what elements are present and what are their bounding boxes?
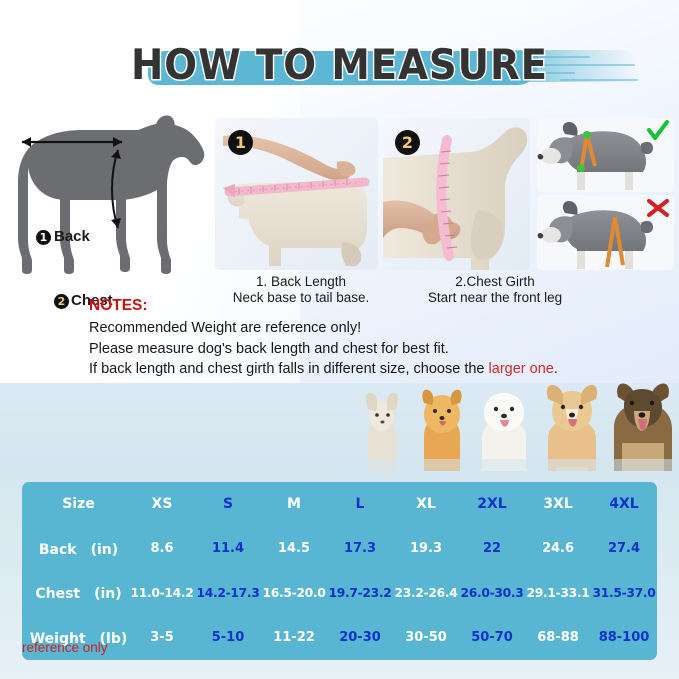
notes-line-3-pre: If back length and chest girth falls in … xyxy=(89,361,489,377)
notes-highlight: larger one xyxy=(489,361,554,377)
table-cell: 4XL xyxy=(591,482,657,527)
table-cell: S xyxy=(195,482,261,527)
row-header: Chest (in) xyxy=(22,571,129,616)
notes-line-2: Please measure dog's back length and che… xyxy=(89,339,659,360)
panel-badge-two: 2 xyxy=(395,130,420,155)
notes-line-1: Recommended Weight are reference only! xyxy=(89,318,659,339)
table-cell: 2XL xyxy=(459,482,525,527)
caption-back-title: 1. Back Length xyxy=(215,274,387,290)
table-cell: 22 xyxy=(459,527,525,572)
table-cell: 50-70 xyxy=(459,616,525,661)
size-table-band: Size XS S M L XL 2XL 3XL 4XL Back (in) 8… xyxy=(0,479,679,679)
dog-silhouette-diagram: 1Back 2Chest xyxy=(6,112,211,277)
dog-breeds-band xyxy=(0,383,679,479)
table-row: Size XS S M L XL 2XL 3XL 4XL xyxy=(22,482,657,527)
size-chart-page: HOW TO MEASURE 1Back 2Chest xyxy=(0,0,679,679)
notes-body: Recommended Weight are reference only! P… xyxy=(89,318,659,380)
table-cell: 27.4 xyxy=(591,527,657,572)
dog-silhouette-icon xyxy=(6,112,211,277)
table-cell: 31.5-37.0 xyxy=(591,571,657,616)
table-row: Weight (lb) 3-5 5-10 11-22 20-30 30-50 5… xyxy=(22,616,657,661)
dog-breeds-row xyxy=(0,383,679,479)
table-cell: 88-100 xyxy=(591,616,657,661)
reference-only-note: reference only xyxy=(22,640,108,655)
notes-heading: NOTES: xyxy=(89,297,148,315)
table-cell: 24.6 xyxy=(525,527,591,572)
table-cell: 3-5 xyxy=(129,616,195,661)
table-cell: 11-22 xyxy=(261,616,327,661)
table-row: Back (in) 8.6 11.4 14.5 17.3 19.3 22 24.… xyxy=(22,527,657,572)
table-cell: 30-50 xyxy=(393,616,459,661)
table-row: Chest (in) 11.0-14.2 14.2-17.3 16.5-20.0… xyxy=(22,571,657,616)
table-cell: 16.5-20.0 xyxy=(261,571,327,616)
caption-back-length: 1. Back Length Neck base to tail base. xyxy=(215,274,387,306)
table-cell: 5-10 xyxy=(195,616,261,661)
page-title: HOW TO MEASURE xyxy=(27,34,652,96)
caption-chest-sub: Start near the front leg xyxy=(395,290,595,306)
back-length-photo: 1 xyxy=(215,118,378,270)
table-cell: 68-88 xyxy=(525,616,591,661)
table-cell: 11.4 xyxy=(195,527,261,572)
table-cell: 8.6 xyxy=(129,527,195,572)
table-cell: 14.2-17.3 xyxy=(195,571,261,616)
table-cell: 29.1-33.1 xyxy=(525,571,591,616)
dog-pomeranian xyxy=(422,390,461,471)
incorrect-fit-photo xyxy=(537,195,674,270)
chest-girth-photo: 2 xyxy=(383,118,530,270)
table-cell: M xyxy=(261,482,327,527)
table-cell: 3XL xyxy=(525,482,591,527)
dog-german-shepherd xyxy=(614,383,672,471)
table-cell: 17.3 xyxy=(327,527,393,572)
caption-chest-girth: 2.Chest Girth Start near the front leg xyxy=(395,274,595,306)
table-cell: 19.3 xyxy=(393,527,459,572)
title-area: HOW TO MEASURE xyxy=(0,34,679,96)
table-cell: XS xyxy=(129,482,195,527)
dog-corgi xyxy=(547,385,597,471)
notes-line-3-post: . xyxy=(554,361,558,377)
back-label-text: Back xyxy=(54,228,90,245)
table-cell: 20-30 xyxy=(327,616,393,661)
notes-line-3: If back length and chest girth falls in … xyxy=(89,359,659,380)
badge-two: 2 xyxy=(54,294,69,309)
back-measure-label: 1Back xyxy=(36,228,90,245)
row-header: Back (in) xyxy=(22,527,129,572)
panel-badge-one: 1 xyxy=(228,130,253,155)
table-cell: 23.2-26.4 xyxy=(393,571,459,616)
row-header: Size xyxy=(22,482,129,527)
table-cell: 26.0-30.3 xyxy=(459,571,525,616)
caption-chest-title: 2.Chest Girth xyxy=(395,274,595,290)
table-cell: L xyxy=(327,482,393,527)
correct-fit-photo xyxy=(537,118,674,192)
badge-one: 1 xyxy=(36,230,51,245)
table-cell: XL xyxy=(393,482,459,527)
caption-back-sub: Neck base to tail base. xyxy=(215,290,387,306)
table-cell: 11.0-14.2 xyxy=(129,571,195,616)
size-table: Size XS S M L XL 2XL 3XL 4XL Back (in) 8… xyxy=(22,482,657,660)
table-cell: 14.5 xyxy=(261,527,327,572)
table-cell: 19.7-23.2 xyxy=(327,571,393,616)
